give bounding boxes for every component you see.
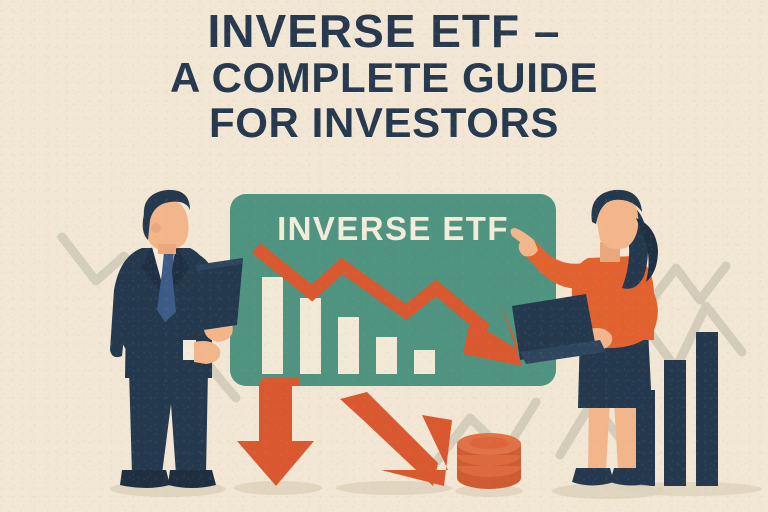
page-title: INVERSE ETF – A COMPLETE GUIDE FOR INVES… xyxy=(0,8,768,145)
woman-leg-right xyxy=(614,400,636,470)
woman-shadow xyxy=(552,483,664,499)
woman-leg-left xyxy=(588,400,610,470)
title-line-2: A COMPLETE GUIDE xyxy=(0,57,768,100)
title-line-1: INVERSE ETF – xyxy=(0,8,768,55)
woman-shoe-right xyxy=(610,468,652,486)
woman-hand-pointing xyxy=(511,228,538,256)
poster-canvas: INVERSE ETF xyxy=(0,0,768,512)
title-line-3: FOR INVESTORS xyxy=(0,102,768,145)
woman-shoe-left xyxy=(572,468,614,486)
